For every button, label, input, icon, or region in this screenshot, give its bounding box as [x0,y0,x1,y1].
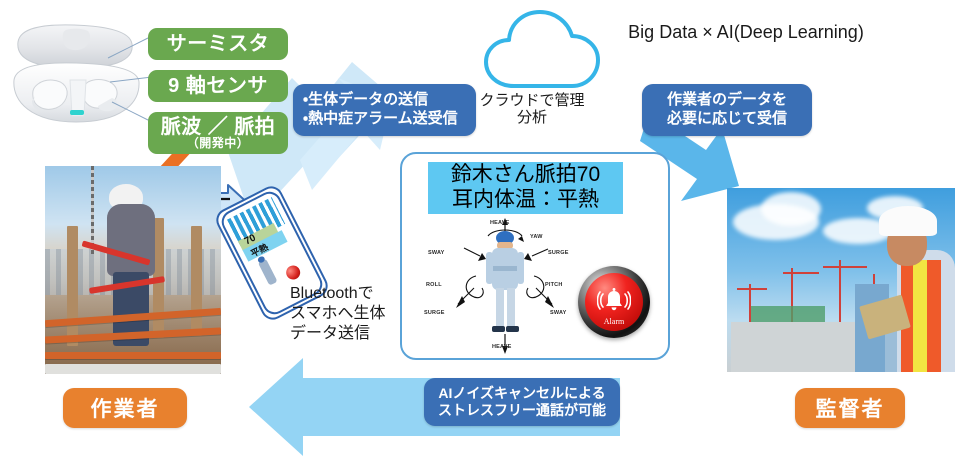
axis-label-pitch: PITCH [545,282,563,288]
alarm-button-label: Alarm [604,318,624,326]
axis-label-yaw: YAW [530,234,543,240]
axis-label-heave-bottom: HEAVE [492,344,512,350]
role-badge-supervisor: 監督者 [795,388,905,428]
bluetooth-note-line3: データ送信 [290,324,410,344]
dashboard-header: 鈴木さん脈拍70 耳内体温：平熱 [428,162,623,214]
bluetooth-note: Bluetoothで スマホへ生体 データ送信 [290,284,410,344]
infographic-canvas: Big Data × AI(Deep Learning) クラウドで管理 分析 [0,0,961,459]
sensor-label-thermistor: サーミスタ [148,28,288,60]
download-data-box: 作業者のデータを 必要に応じて受信 [642,84,812,136]
sensor-label-pulse-wave: 脈波 ／ 脈拍 （開発中） [148,112,288,154]
noise-cancel-line1: AIノイズキャンセルによる [438,385,605,403]
download-data-line1: 作業者のデータを [667,91,787,110]
sensor-label-nine-axis: 9 軸センサ [148,70,288,102]
sensor-label-nine-axis-text: 9 軸センサ [168,76,268,97]
photo-supervisor [727,188,955,372]
bluetooth-note-line1: Bluetoothで [290,284,410,304]
upload-data-box: ・生体データの送信 ・熱中症アラーム送受信 [293,84,476,136]
noise-cancel-line2: ストレスフリー通話が可能 [438,402,606,420]
sensor-label-pulse-wave-text: 脈波 ／ 脈拍 [161,117,276,138]
axis-label-surge-left: SURGE [424,310,445,316]
dashboard-header-line2: 耳内体温：平熱 [452,188,599,213]
noise-cancel-box: AIノイズキャンセルによる ストレスフリー通話が可能 [424,378,620,426]
role-badge-worker-text: 作業者 [91,393,160,423]
alarm-button[interactable]: Alarm [578,266,650,338]
cloud-icon [482,8,607,98]
axis-label-heave-top: HEAVE [490,220,510,226]
axis-label-sway-left: SWAY [428,250,445,256]
role-badge-worker: 作業者 [63,388,187,428]
axis-label-sway-right: SWAY [550,310,567,316]
photo-worker-on-site [45,166,221,374]
big-data-headline: Big Data × AI(Deep Learning) [596,22,896,43]
download-data-line2: 必要に応じて受信 [667,110,787,129]
dashboard-header-line1: 鈴木さん脈拍70 [451,163,600,188]
dashboard-panel: 鈴木さん脈拍70 耳内体温：平熱 [400,152,670,360]
upload-data-line2: ・熱中症アラーム送受信 [303,110,458,129]
role-badge-supervisor-text: 監督者 [816,393,885,423]
cloud-caption: クラウドで管理 分析 [478,92,586,127]
sensor-label-thermistor-text: サーミスタ [167,34,270,55]
bluetooth-note-line2: スマホへ生体 [290,304,410,324]
sensor-label-pulse-wave-sub: （開発中） [187,137,250,150]
upload-data-line1: ・生体データの送信 [303,91,428,110]
motion-axis-diagram [420,216,590,356]
axis-label-roll: ROLL [426,282,442,288]
bell-icon [597,287,631,317]
axis-label-surge-right: SURGE [548,250,569,256]
cloud-caption-line2: 分析 [478,109,586,126]
cloud-caption-line1: クラウドで管理 [478,92,586,109]
